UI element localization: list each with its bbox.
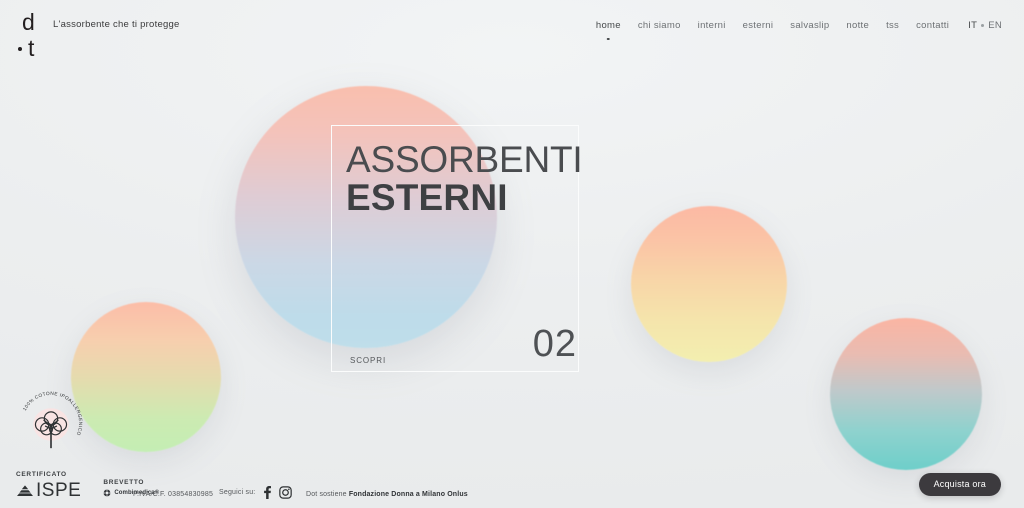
vat-number: P.IVA/C.F. 03854830985 (133, 491, 213, 498)
certificato-label: CERTIFICATO (16, 471, 81, 478)
social-links: Seguici su: (219, 486, 292, 499)
lang-option-it[interactable]: IT (968, 20, 977, 31)
nav-item-salvaslip[interactable]: salvaslip (790, 20, 829, 31)
brevetto-label: BREVETTO (103, 479, 159, 486)
certificato-block: CERTIFICATO ISPE (16, 471, 81, 500)
buy-now-button[interactable]: Acquista ora (919, 473, 1001, 496)
decorative-sphere-yellow (631, 206, 787, 362)
main-navigation: home chi siamo interni esterni salvaslip… (596, 20, 1002, 31)
site-footer: 100% COTONE IPOALLERGENICO CERTIFICATO I… (0, 398, 1024, 508)
page-root: ASSORBENTI ESTERNI SCOPRI 02 d t L'assor… (0, 0, 1024, 508)
hero-title-line1: ASSORBENTI (346, 143, 583, 178)
charity-note-prefix: Dot sostiene (306, 491, 349, 498)
nav-item-esterni[interactable]: esterni (743, 20, 774, 31)
instagram-icon[interactable] (279, 486, 292, 499)
nav-item-home[interactable]: home (596, 20, 621, 31)
ispe-mark-icon (16, 484, 34, 498)
hero-scopri-link[interactable]: SCOPRI (350, 356, 386, 365)
social-label: Seguici su: (219, 489, 255, 496)
nav-item-contatti[interactable]: contatti (916, 20, 949, 31)
site-tagline: L'assorbente che ti protegge (53, 19, 180, 30)
nav-item-tss[interactable]: tss (886, 20, 899, 31)
ispe-brand-text: ISPE (36, 481, 81, 500)
charity-note: Dot sostiene Fondazione Donna a Milano O… (306, 491, 468, 498)
bullet-dot-icon (981, 24, 984, 27)
combimedica-mark-icon (103, 489, 111, 497)
language-switcher: IT EN (968, 20, 1002, 31)
logo-row-2: t (18, 37, 35, 60)
hero-title-line2: ESTERNI (346, 181, 583, 216)
site-header: d t L'assorbente che ti protegge home ch… (0, 0, 1024, 70)
nav-item-notte[interactable]: notte (846, 20, 869, 31)
hero-slide-number: 02 (533, 323, 577, 366)
hero-title: ASSORBENTI ESTERNI (346, 143, 583, 216)
logo-letter-d: d (22, 11, 35, 34)
site-logo[interactable]: d t (18, 11, 35, 60)
lang-option-en[interactable]: EN (988, 20, 1002, 31)
cotton-certification-badge: 100% COTONE IPOALLERGENICO (14, 386, 88, 460)
nav-item-interni[interactable]: interni (698, 20, 726, 31)
charity-note-name[interactable]: Fondazione Donna a Milano Onlus (349, 491, 468, 498)
logo-letter-t: t (28, 37, 34, 60)
bullet-dot-icon (18, 47, 22, 51)
nav-item-chi-siamo[interactable]: chi siamo (638, 20, 681, 31)
ispe-logo: ISPE (16, 481, 81, 500)
facebook-icon[interactable] (262, 486, 272, 499)
